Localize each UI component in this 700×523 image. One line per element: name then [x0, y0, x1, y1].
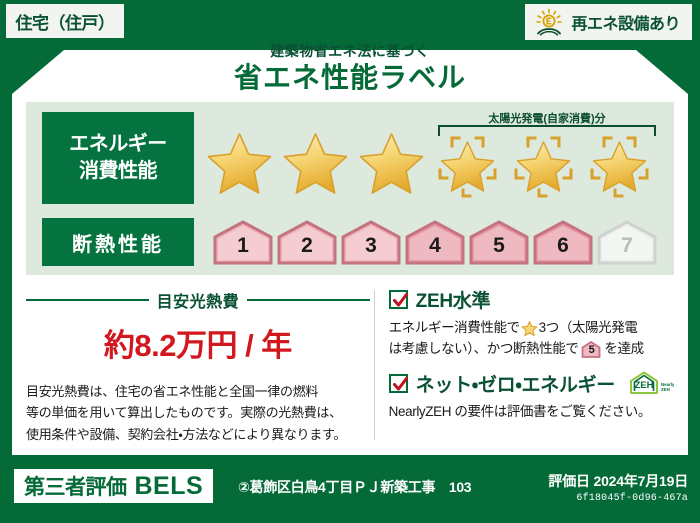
insulation-badge-label: 4 — [429, 234, 441, 265]
insulation-badge-label: 7 — [621, 234, 633, 265]
zeh-standard-body: エネルギー消費性能で 3つ（太陽光発電 は考慮しない）、かつ断熱性能で — [389, 318, 674, 360]
vertical-divider — [374, 290, 375, 440]
inline-badge-label: 5 — [589, 345, 595, 358]
energy-performance-key: エネルギー 消費性能 — [42, 112, 194, 204]
star-icon — [521, 320, 538, 337]
insulation-badge-6: 6 — [532, 219, 594, 265]
star-icon-6-solar — [582, 126, 657, 202]
renewable-badge-label: 再エネ設備あり — [571, 10, 680, 34]
star-icon-1 — [202, 126, 277, 202]
cost-value: 約8.2万円 / 年 — [26, 320, 370, 365]
insulation-badge-label: 5 — [493, 234, 505, 265]
cost-note-line-1: 目安光熱費は、住宅の省エネ性能と全国一律の燃料 — [26, 381, 370, 402]
cost-section: 目安光熱費 約8.2万円 / 年 目安光熱費は、住宅の省エネ性能と全国一律の燃料… — [26, 286, 370, 446]
energy-performance-label-card: 住宅（住戸） 再エネ設備あり 建築 — [0, 0, 700, 523]
bels-jp-label: 第三者評価 — [24, 471, 127, 501]
insulation-badge-5: 5 — [468, 219, 530, 265]
cost-note: 目安光熱費は、住宅の省エネ性能と全国一律の燃料 等の単価を用いて算出したものです… — [26, 381, 370, 445]
svg-text:ZEH: ZEH — [661, 387, 670, 392]
bels-en-label: BELS — [135, 472, 204, 501]
bels-plate: 第三者評価 BELS — [14, 469, 213, 503]
renewable-energy-badge: 再エネ設備あり — [525, 4, 692, 40]
star-icon-5-solar — [506, 126, 581, 202]
insulation-badge-3: 3 — [340, 219, 402, 265]
star-icon-4-solar — [430, 126, 505, 202]
insulation-key-label: 断熱性能 — [72, 228, 164, 257]
zeh-body-text-a: エネルギー消費性能で — [389, 318, 520, 339]
insulation-performance-row: 断熱性能 1 2 — [26, 214, 674, 270]
category-tag-label: 住宅（住戸） — [16, 9, 115, 34]
claim-zeh-standard: ZEH水準 エネルギー消費性能で 3つ（太陽光発電 — [389, 286, 674, 360]
zeh-standard-title: ZEH水準 — [416, 286, 491, 313]
svg-text:ZEH: ZEH — [635, 380, 654, 391]
zeh-house-logo-icon: ZEH Nearly ZEH — [628, 370, 674, 396]
insulation-badge-7: 7 — [596, 219, 658, 265]
energy-key-line1: エネルギー — [69, 131, 167, 158]
insulation-badge-label: 6 — [557, 234, 569, 265]
footer: 第三者評価 BELS ②葛飾区白鳥4丁目ＰＪ新築工事 103 評価日 2024年… — [0, 461, 700, 523]
claim-net-zero-head: ネット・ゼロ・エネルギー ZEH Nearly ZEH — [389, 370, 674, 397]
insulation-badge-strip: 1 2 3 — [212, 219, 658, 265]
sun-icon — [534, 8, 564, 36]
panel-body: エネルギー 消費性能 太陽光発電(自家消費)分 — [12, 50, 688, 455]
net-zero-body-line-1: NearlyZEH の要件は評価書をご覧ください。 — [389, 402, 674, 423]
zeh-body-text-c: は考慮しない）、かつ断熱性能で — [389, 339, 579, 360]
insulation-badge-label: 1 — [237, 234, 249, 265]
energy-key-line2: 消費性能 — [79, 158, 157, 185]
insulation-badge-2: 2 — [276, 219, 338, 265]
insulation-badge-4: 4 — [404, 219, 466, 265]
net-zero-energy-title: ネット・ゼロ・エネルギー — [416, 370, 615, 397]
project-name: ②葛飾区白鳥4丁目ＰＪ新築工事 103 — [238, 477, 471, 497]
star-rating-area: 太陽光発電(自家消費)分 — [202, 108, 674, 208]
cost-rule-right — [247, 299, 370, 301]
star-icon-2 — [278, 126, 353, 202]
energy-performance-row: エネルギー 消費性能 太陽光発電(自家消費)分 — [26, 108, 674, 208]
insulation-badge-1: 1 — [212, 219, 274, 265]
evaluation-date: 評価日 2024年7月19日 — [548, 471, 688, 491]
insulation-performance-key: 断熱性能 — [42, 218, 194, 266]
cost-note-line-2: 等の単価を用いて算出したものです。実際の光熱費は、 — [26, 402, 370, 423]
cost-note-line-3: 使用条件や設備、契約会社・方法などにより異なります。 — [26, 424, 370, 445]
claim-net-zero-energy: ネット・ゼロ・エネルギー ZEH Nearly ZEH — [389, 370, 674, 423]
star-strip — [202, 126, 657, 202]
cost-title: 目安光熱費 — [157, 288, 240, 312]
inline-insulation-badge-icon: 5 — [581, 341, 601, 358]
insulation-badge-label: 2 — [301, 234, 313, 265]
claim-zeh-head: ZEH水準 — [389, 286, 674, 313]
performance-block: エネルギー 消費性能 太陽光発電(自家消費)分 — [26, 102, 674, 275]
zeh-standard-checkbox[interactable] — [389, 290, 408, 309]
zeh-body-text-b: 3つ（太陽光発電 — [539, 318, 638, 339]
zeh-standard-body-line-1: エネルギー消費性能で 3つ（太陽光発電 — [389, 318, 674, 339]
net-zero-energy-checkbox[interactable] — [389, 374, 408, 393]
insulation-badge-label: 3 — [365, 234, 377, 265]
star-icon-3 — [354, 126, 429, 202]
lower-section: 目安光熱費 約8.2万円 / 年 目安光熱費は、住宅の省エネ性能と全国一律の燃料… — [26, 286, 674, 446]
claims-section: ZEH水準 エネルギー消費性能で 3つ（太陽光発電 — [385, 286, 674, 446]
cost-rule-left — [26, 299, 149, 301]
net-zero-energy-body: NearlyZEH の要件は評価書をご覧ください。 — [389, 402, 674, 423]
evaluation-block: 評価日 2024年7月19日 6f18045f-0d96-467a — [548, 471, 688, 504]
zeh-body-text-d: を達成 — [604, 339, 643, 360]
cost-heading: 目安光熱費 — [26, 288, 370, 312]
evaluation-id: 6f18045f-0d96-467a — [548, 493, 688, 504]
zeh-standard-body-line-2: は考慮しない）、かつ断熱性能で 5 を達成 — [389, 339, 674, 360]
solar-annotation-label: 太陽光発電(自家消費)分 — [440, 110, 654, 126]
category-tag: 住宅（住戸） — [6, 4, 124, 38]
